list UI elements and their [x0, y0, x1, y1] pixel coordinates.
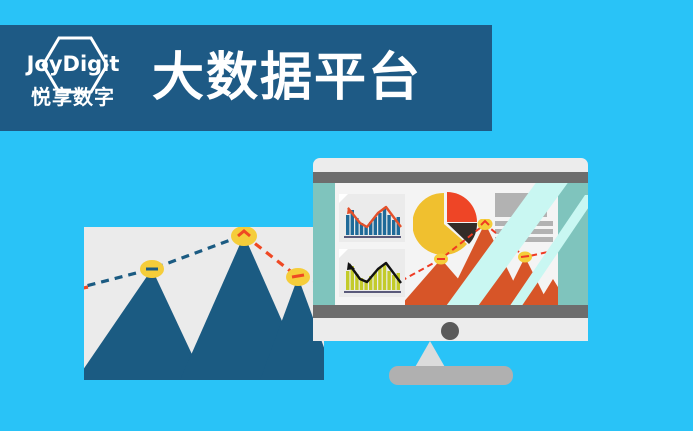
monitor-bottom-bar	[313, 305, 588, 318]
monitor-screen	[313, 183, 588, 305]
logo-wordmark: JoyDigit	[27, 54, 120, 75]
bar-series-olive	[346, 264, 400, 290]
mini-bar-chart-blue-card[interactable]	[339, 194, 405, 242]
desktop-monitor	[313, 158, 588, 341]
header-banner: JoyDigit 悦享数字 大数据平台	[0, 25, 492, 131]
screen-side-panel-right	[558, 183, 588, 305]
mountain-chart-blue	[84, 227, 324, 380]
pie-slice-red	[447, 192, 477, 222]
power-button-icon[interactable]	[441, 322, 459, 340]
dashboard-content	[335, 183, 558, 305]
placeholder-block	[495, 193, 547, 217]
monitor-top-bar	[313, 172, 588, 183]
card-fold-corner	[339, 249, 348, 258]
bar-series-blue	[346, 208, 400, 235]
mountain-shape-1	[84, 269, 204, 380]
trend-line-dash-red-start	[84, 287, 88, 290]
monitor-base	[389, 366, 513, 385]
brand-logo: JoyDigit 悦享数字	[14, 34, 132, 122]
page-title: 大数据平台	[152, 52, 422, 104]
card-fold-corner	[339, 194, 348, 203]
monitor-stand	[414, 341, 446, 369]
mountain-chart-panel	[84, 227, 324, 380]
mountain-area-chart-orange	[405, 219, 558, 305]
illustration-canvas: JoyDigit 悦享数字 大数据平台	[0, 0, 693, 431]
screen-side-panel-left	[313, 183, 335, 305]
marker-inner-dash	[292, 275, 304, 277]
marker-inner-dash	[521, 256, 529, 257]
mini-bar-chart-olive-card[interactable]	[339, 249, 405, 297]
logo-chinese-name: 悦享数字	[31, 88, 115, 108]
trend-line-dashed-blue	[84, 235, 244, 289]
